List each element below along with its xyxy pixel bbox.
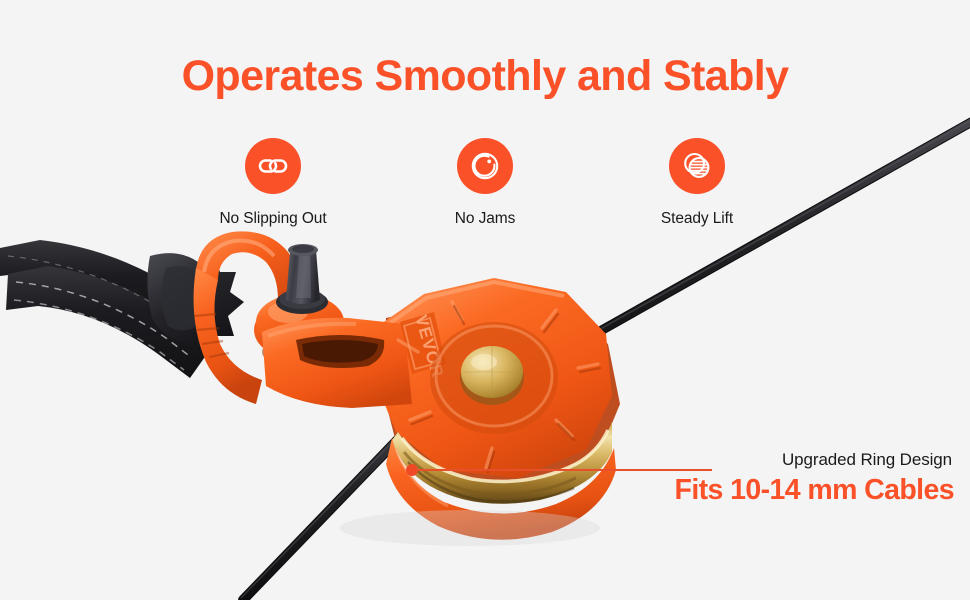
webbing-strap bbox=[0, 240, 244, 378]
axle-cap bbox=[460, 346, 524, 405]
feature-item-no-jams[interactable]: No Jams bbox=[415, 138, 555, 228]
feature-item-steady-lift[interactable]: Steady Lift bbox=[627, 138, 767, 228]
feature-label: No Jams bbox=[455, 210, 515, 228]
feature-list: No Slipping Out No Jams bbox=[0, 138, 970, 228]
feature-label: Steady Lift bbox=[661, 210, 733, 228]
svg-text:VEVOR: VEVOR bbox=[411, 313, 447, 380]
shackle-bow bbox=[194, 231, 301, 404]
striped-sheave-icon bbox=[669, 138, 725, 194]
bearing-wheel-icon bbox=[457, 138, 513, 194]
brand-emboss: VEVOR bbox=[400, 312, 447, 380]
rope-lower-segment bbox=[241, 403, 432, 600]
feature-item-no-slipping-out[interactable]: No Slipping Out bbox=[203, 138, 343, 228]
feature-banner: VEVOR bbox=[0, 0, 970, 600]
pulley-housing: VEVOR bbox=[262, 278, 620, 492]
callout-subtitle: Upgraded Ring Design bbox=[600, 450, 960, 470]
callout-headline: Fits 10-14 mm Cables bbox=[600, 474, 960, 507]
feature-label: No Slipping Out bbox=[219, 210, 326, 228]
housing-lower-lip bbox=[386, 438, 616, 540]
callout-block: Upgraded Ring Design Fits 10-14 mm Cable… bbox=[600, 450, 960, 507]
swivel-pin-assembly bbox=[254, 244, 346, 368]
page-title: Operates Smoothly and Stably bbox=[0, 52, 970, 101]
chain-link-icon bbox=[245, 138, 301, 194]
brass-sheave bbox=[392, 422, 612, 504]
